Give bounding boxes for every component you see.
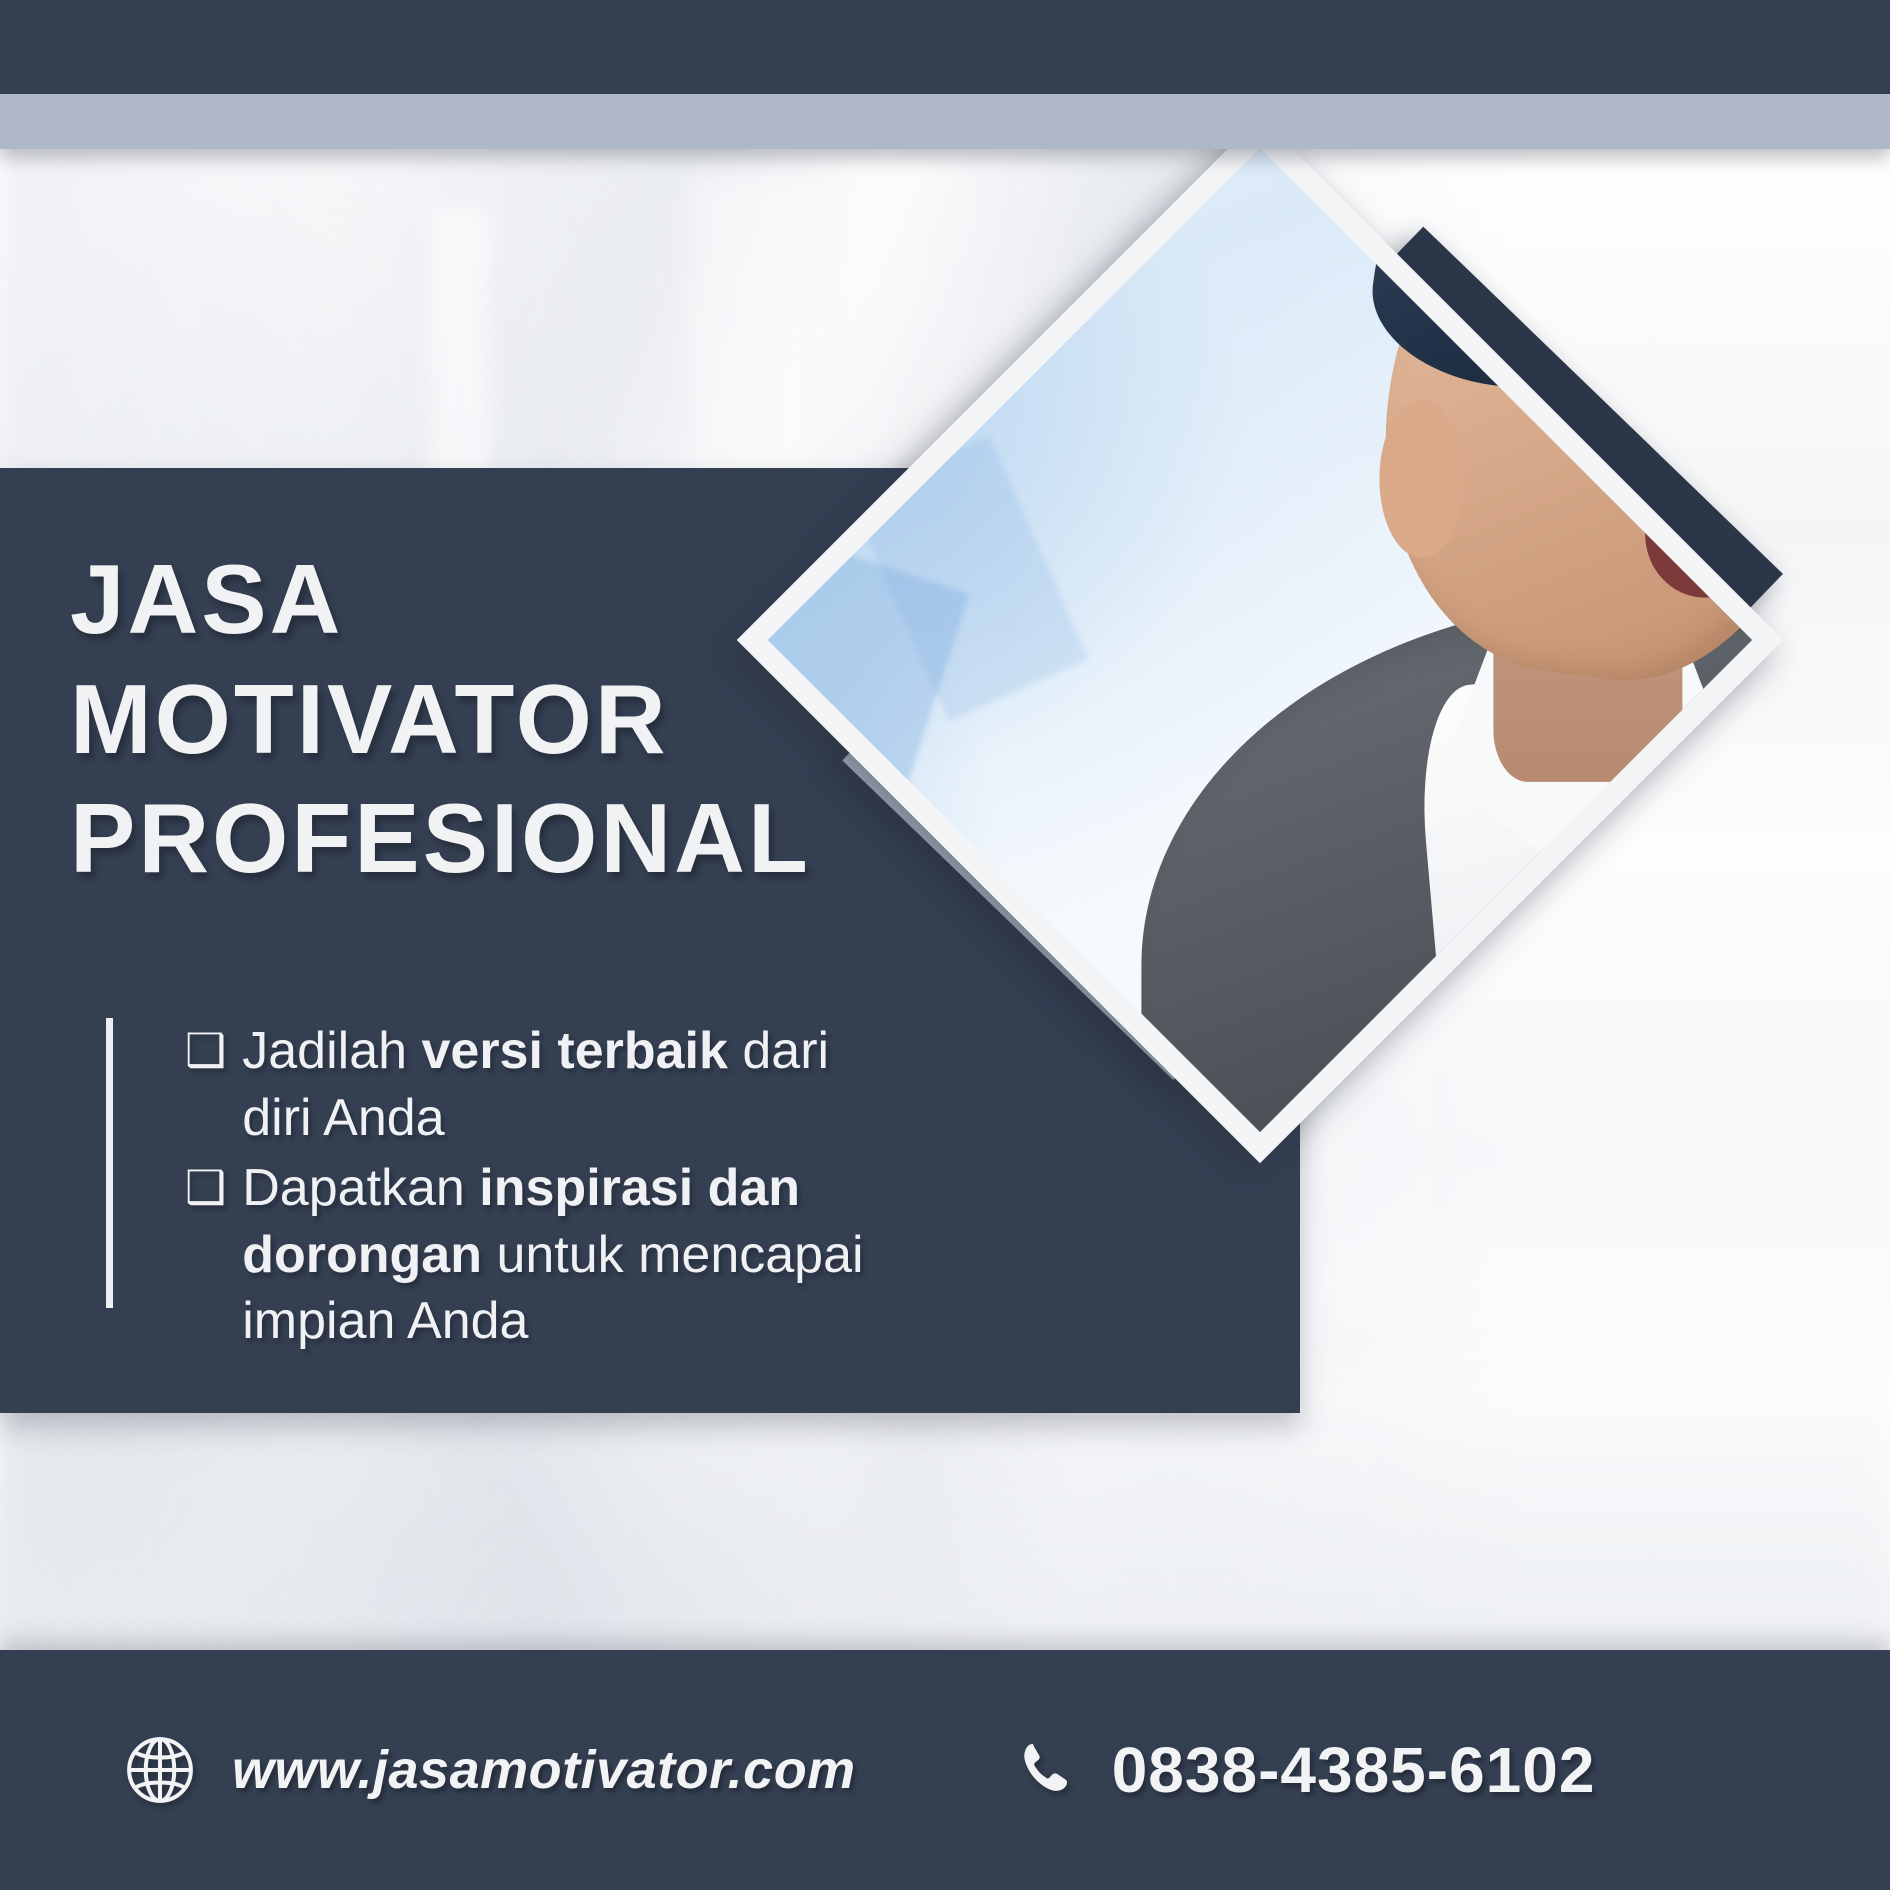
headline: JASA MOTIVATOR PROFESIONAL [70, 540, 811, 899]
phone-icon [1016, 1738, 1080, 1802]
promo-poster: JASA MOTIVATOR PROFESIONAL ❑ Jadilah ver… [0, 0, 1890, 1890]
phone-contact[interactable]: 0838-4385-6102 [1016, 1733, 1596, 1807]
benefit-list: ❑ Jadilah versi terbaik dari diri Anda ❑… [106, 1018, 896, 1308]
phone-text: 0838-4385-6102 [1112, 1733, 1596, 1807]
list-item: ❑ Jadilah versi terbaik dari diri Anda [185, 1018, 896, 1151]
globe-icon [122, 1732, 198, 1808]
website-contact[interactable]: www.jasamotivator.com [122, 1732, 856, 1808]
headline-line-3: PROFESIONAL [70, 779, 811, 899]
list-item-text: Dapatkan inspirasi dan dorongan untuk me… [242, 1155, 896, 1355]
top-dark-bar [0, 0, 1890, 94]
list-item-text: Jadilah versi terbaik dari diri Anda [242, 1018, 896, 1151]
top-accent-bar [0, 94, 1890, 149]
photo-composition [930, 250, 1890, 1360]
list-item: ❑ Dapatkan inspirasi dan dorongan untuk … [185, 1155, 896, 1355]
checkbox-icon: ❑ [185, 1155, 226, 1219]
contact-footer: www.jasamotivator.com 0838-4385-6102 [0, 1650, 1890, 1890]
website-text: www.jasamotivator.com [232, 1739, 856, 1801]
headline-line-2: MOTIVATOR [70, 660, 811, 780]
checkbox-icon: ❑ [185, 1018, 226, 1082]
headline-line-1: JASA [70, 540, 811, 660]
